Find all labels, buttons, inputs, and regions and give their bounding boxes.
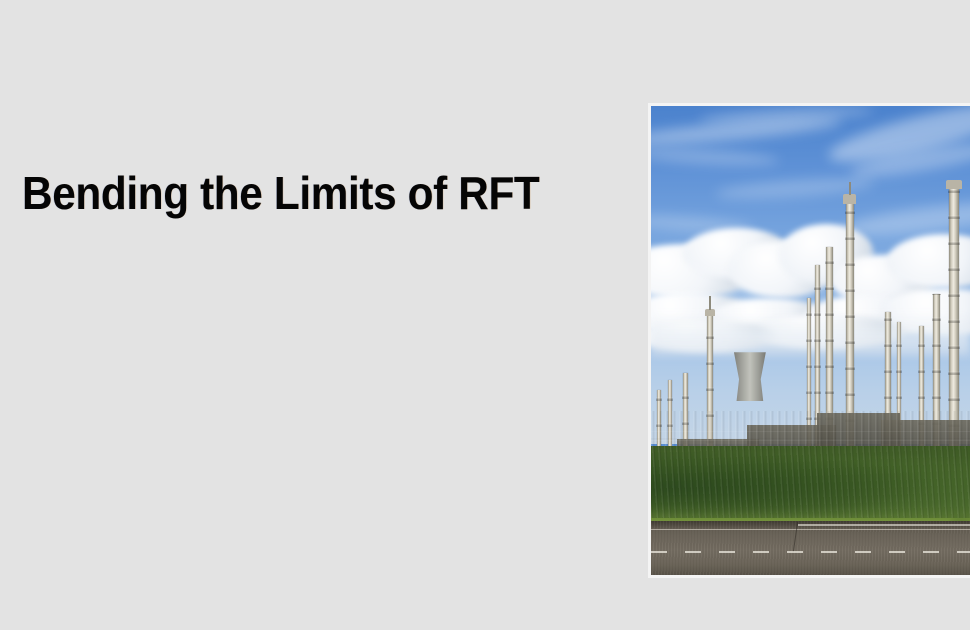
- vegetation-hedge: [651, 446, 970, 521]
- refinery-photo: [651, 106, 970, 575]
- column-cap: [946, 180, 961, 189]
- asphalt-road: [651, 521, 970, 575]
- road-marking-dashed: [651, 551, 970, 553]
- column-vent-tip: [709, 296, 711, 310]
- cirrus-cloud-icon: [651, 146, 779, 167]
- road-marking-solid: [798, 524, 970, 526]
- column-cap: [843, 194, 856, 203]
- vegetation-texture: [651, 446, 970, 521]
- road-marking-solid: [651, 529, 970, 531]
- presentation-slide: Bending the Limits of RFT: [0, 0, 970, 630]
- refinery-photo-frame: [648, 103, 970, 578]
- column-vent-tip: [849, 182, 851, 195]
- page-title: Bending the Limits of RFT: [22, 167, 539, 219]
